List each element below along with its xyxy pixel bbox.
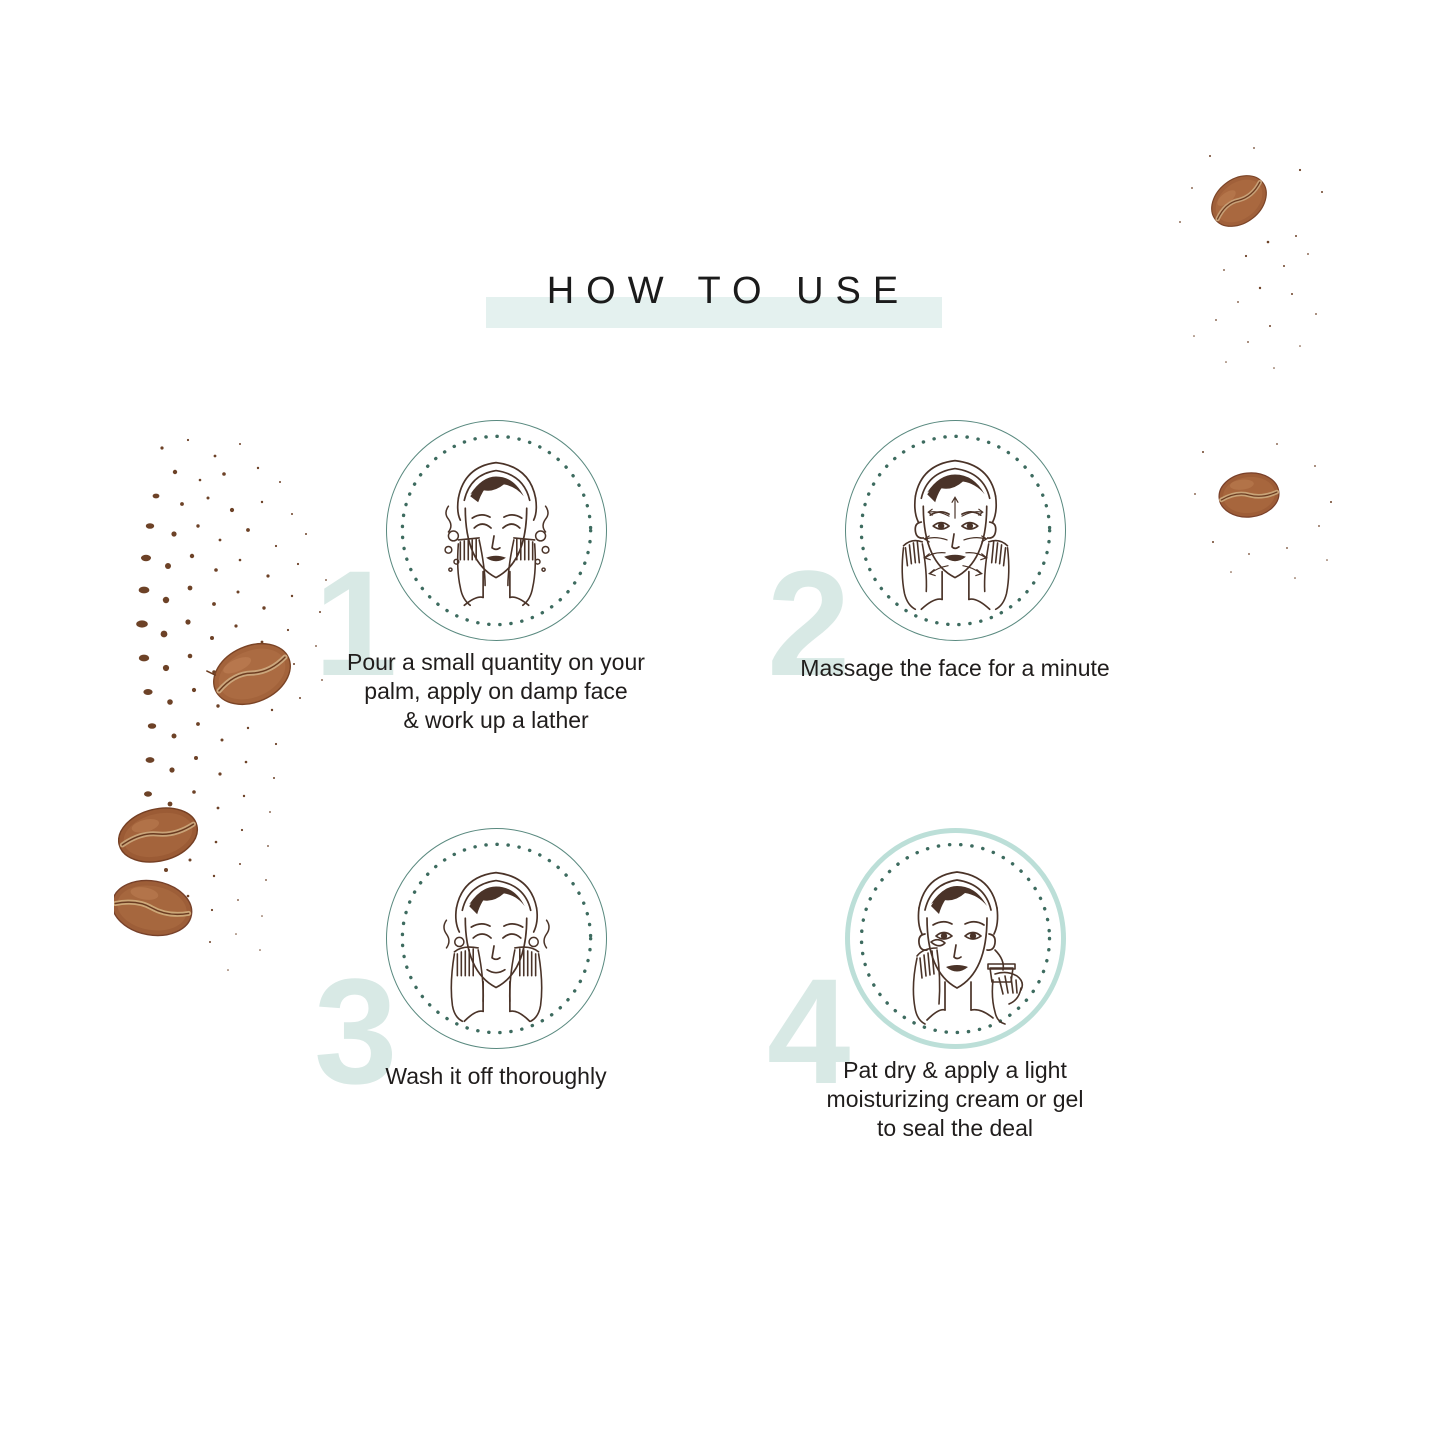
- step-2-illustration-circle: [845, 420, 1066, 641]
- step-4-caption: Pat dry & apply a light moisturizing cre…: [735, 1056, 1175, 1143]
- applying-cream-with-jar-icon: [845, 828, 1066, 1049]
- coffee-bean-left-lower: [118, 798, 210, 872]
- step-1-illustration-circle: [386, 420, 607, 641]
- page-title: HOW TO USE: [0, 268, 1445, 314]
- coffee-bean-right: [1214, 464, 1284, 526]
- coffee-bean-left-bottom: [114, 868, 206, 948]
- washing-face-with-lather-icon: [387, 421, 606, 640]
- step-1-caption: Pour a small quantity on your palm, appl…: [276, 648, 716, 735]
- how-to-use-infographic: HOW TO USE: [0, 0, 1445, 1445]
- step-3-illustration-circle: [386, 828, 607, 1049]
- rinsing-face-with-water-icon: [387, 829, 606, 1048]
- coffee-bean-top-right: [1202, 164, 1276, 238]
- step-3-caption: Wash it off thoroughly: [276, 1062, 716, 1091]
- step-4-illustration-circle: [845, 828, 1066, 1049]
- step-2-caption: Massage the face for a minute: [735, 654, 1175, 683]
- massaging-face-with-arrows-icon: [846, 421, 1065, 640]
